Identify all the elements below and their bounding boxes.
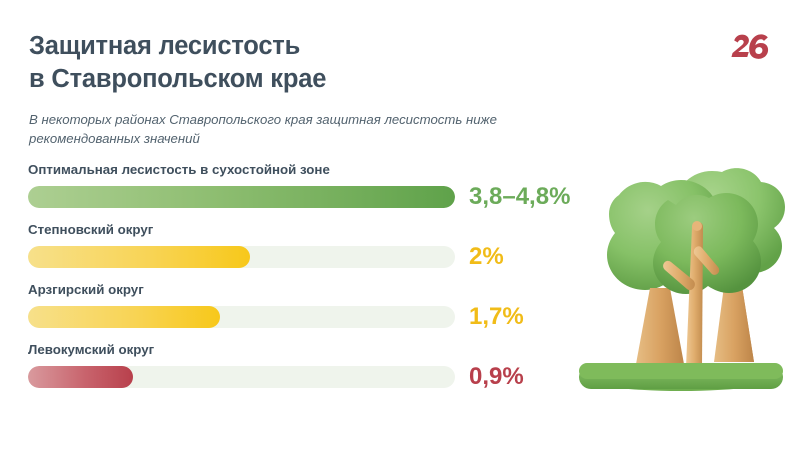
bar-track: [28, 306, 455, 328]
bar-track: [28, 186, 455, 208]
bar-fill: [28, 246, 250, 268]
bar-row: Оптимальная лесистость в сухостойной зон…: [28, 163, 588, 223]
bar-row: Левокумский округ 0,9%: [28, 343, 588, 403]
bar-line: 1,7%: [28, 305, 588, 329]
bar-line: 0,9%: [28, 365, 588, 389]
tree-illustration: [556, 160, 800, 425]
bar-fill: [28, 366, 133, 388]
bar-label: Степновский округ: [28, 223, 588, 245]
page-title: Защитная лесистость в Ставропольском кра…: [29, 30, 549, 95]
bar-line: 3,8–4,8%: [28, 185, 588, 209]
bar-label: Оптимальная лесистость в сухостойной зон…: [28, 163, 588, 185]
bar-line: 2%: [28, 245, 588, 269]
bar-row: Степновский округ 2%: [28, 223, 588, 283]
bar-track: [28, 366, 455, 388]
infographic-canvas: Защитная лесистость в Ставропольском кра…: [0, 0, 800, 451]
bar-chart: Оптимальная лесистость в сухостойной зон…: [28, 163, 588, 403]
bar-fill: [28, 306, 220, 328]
bar-value: 2%: [469, 245, 504, 269]
bar-value: 1,7%: [469, 305, 524, 329]
bar-row: Арзгирский округ 1,7%: [28, 283, 588, 343]
bar-fill: [28, 186, 455, 208]
bar-track: [28, 246, 455, 268]
bar-label: Левокумский округ: [28, 343, 588, 365]
bar-label: Арзгирский округ: [28, 283, 588, 305]
bar-value: 0,9%: [469, 365, 524, 389]
brand-logo-26: [726, 30, 774, 70]
page-subtitle: В некоторых районах Ставропольского края…: [29, 110, 574, 148]
